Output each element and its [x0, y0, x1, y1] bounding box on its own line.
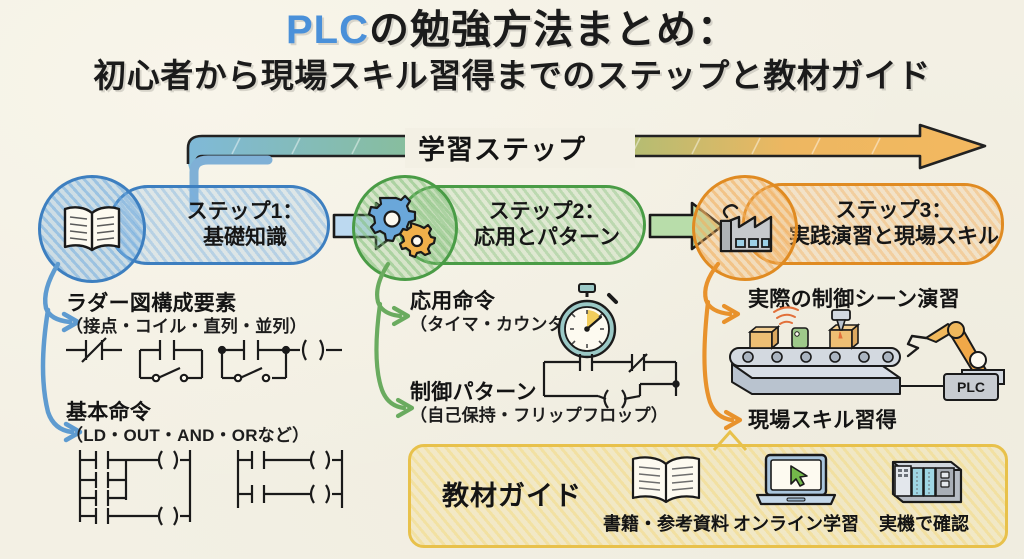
- guide-title: 教材ガイド: [442, 474, 582, 513]
- guide-label-device: 実機で確認: [858, 510, 990, 536]
- guide-item-books[interactable]: 書籍・参考資料: [600, 452, 732, 536]
- guide-label-online: オンライン学習: [730, 510, 862, 536]
- infographic-canvas: PLCの勉強方法まとめ： 初心者から現場スキル習得までのステップと教材ガイド 学…: [0, 0, 1024, 559]
- detail-heading-onsite-skill: 現場スキル習得: [748, 404, 897, 434]
- ladder-symbols-figure: [62, 334, 350, 390]
- plc-device-label: PLC: [957, 379, 985, 395]
- page-title: PLCの勉強方法まとめ： 初心者から現場スキル習得までのステップと教材ガイド: [0, 8, 1024, 95]
- title-line-1-rest: の勉強方法まとめ：: [369, 8, 738, 52]
- factory-icon: [713, 199, 777, 257]
- detail-sub-basic-instructions: （LD・OUT・AND・ORなど）: [66, 421, 309, 446]
- guide-panel-notch: [700, 428, 760, 452]
- title-line-2: 初心者から現場スキル習得までのステップと教材ガイド: [0, 56, 1024, 96]
- ladder-self-hold-figure: [536, 352, 696, 414]
- stopwatch-icon: [546, 282, 628, 360]
- laptop-cursor-icon: [753, 452, 839, 508]
- conveyor-robot-plc-illustration: PLC: [722, 308, 1022, 404]
- title-highlight: PLC: [286, 8, 369, 52]
- title-line-1: PLCの勉強方法まとめ：: [0, 8, 1024, 53]
- guide-item-online[interactable]: オンライン学習: [730, 452, 862, 536]
- banner-label: 学習ステップ: [418, 128, 586, 167]
- guide-label-books: 書籍・参考資料: [600, 510, 732, 536]
- plc-rack-icon: [881, 452, 967, 508]
- gears-icon: [372, 197, 438, 259]
- open-book-icon: [61, 203, 123, 255]
- ladder-rungs-figure: [70, 446, 360, 546]
- open-book-icon: [628, 452, 704, 508]
- guide-item-device[interactable]: 実機で確認: [858, 452, 990, 536]
